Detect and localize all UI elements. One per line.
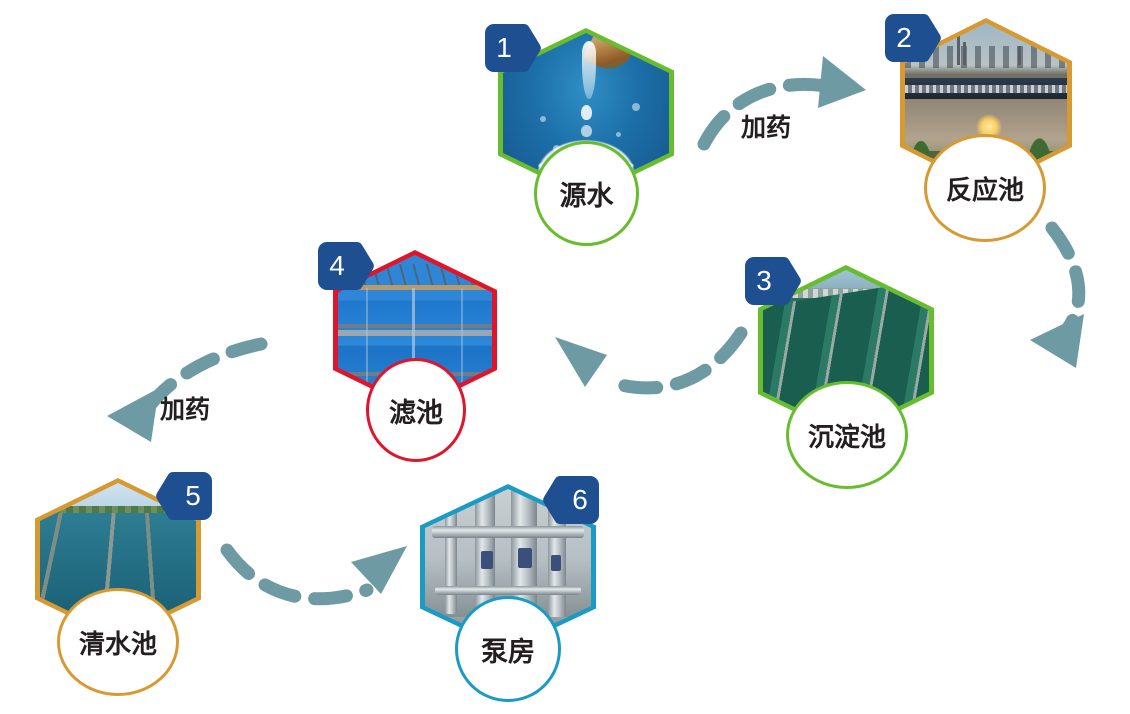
step-badge-6: 6 — [540, 472, 602, 528]
node-5-caption: 清水池 — [57, 588, 179, 696]
arrow-4-to-5-label: 加药 — [160, 390, 210, 426]
node-4-caption: 滤池 — [366, 358, 466, 462]
node-6-caption: 泵房 — [455, 596, 561, 702]
step-badge-2-number: 2 — [882, 10, 926, 66]
process-node-3[interactable]: 3 沉淀池 — [758, 265, 934, 437]
process-node-2[interactable]: 2 反应池 — [900, 18, 1072, 190]
step-badge-1: 1 — [482, 20, 544, 76]
process-node-6[interactable]: 6 泵房 — [420, 484, 596, 650]
arrow-3-to-4 — [545, 325, 765, 415]
step-badge-1-number: 1 — [482, 20, 526, 76]
process-node-5[interactable]: 5 清水池 — [35, 478, 201, 640]
arrow-5-to-6 — [215, 534, 425, 634]
step-badge-3-number: 3 — [742, 253, 786, 309]
step-badge-4: 4 — [315, 238, 377, 294]
step-badge-5: 5 — [153, 468, 215, 524]
step-badge-4-number: 4 — [315, 238, 359, 294]
arrow-2-to-3 — [1010, 222, 1130, 382]
node-2-label: 反应池 — [946, 170, 1024, 207]
node-1-label: 源水 — [560, 174, 614, 213]
node-1-caption: 源水 — [534, 141, 639, 246]
node-3-caption: 沉淀池 — [786, 381, 908, 489]
node-3-label: 沉淀池 — [808, 417, 886, 454]
step-badge-6-number: 6 — [558, 472, 602, 528]
node-4-label: 滤池 — [389, 391, 443, 430]
node-6-label: 泵房 — [481, 630, 535, 669]
node-2-caption: 反应池 — [924, 134, 1046, 242]
process-node-4[interactable]: 4 滤池 — [333, 250, 497, 410]
process-node-1[interactable]: 1 源水 — [498, 28, 674, 198]
step-badge-3: 3 — [742, 253, 804, 309]
arrow-1-to-2-label: 加药 — [741, 108, 791, 144]
step-badge-2: 2 — [882, 10, 944, 66]
node-5-label: 清水池 — [79, 624, 157, 661]
process-flow-diagram: 加药 加药 — [0, 0, 1130, 714]
step-badge-5-number: 5 — [171, 468, 215, 524]
